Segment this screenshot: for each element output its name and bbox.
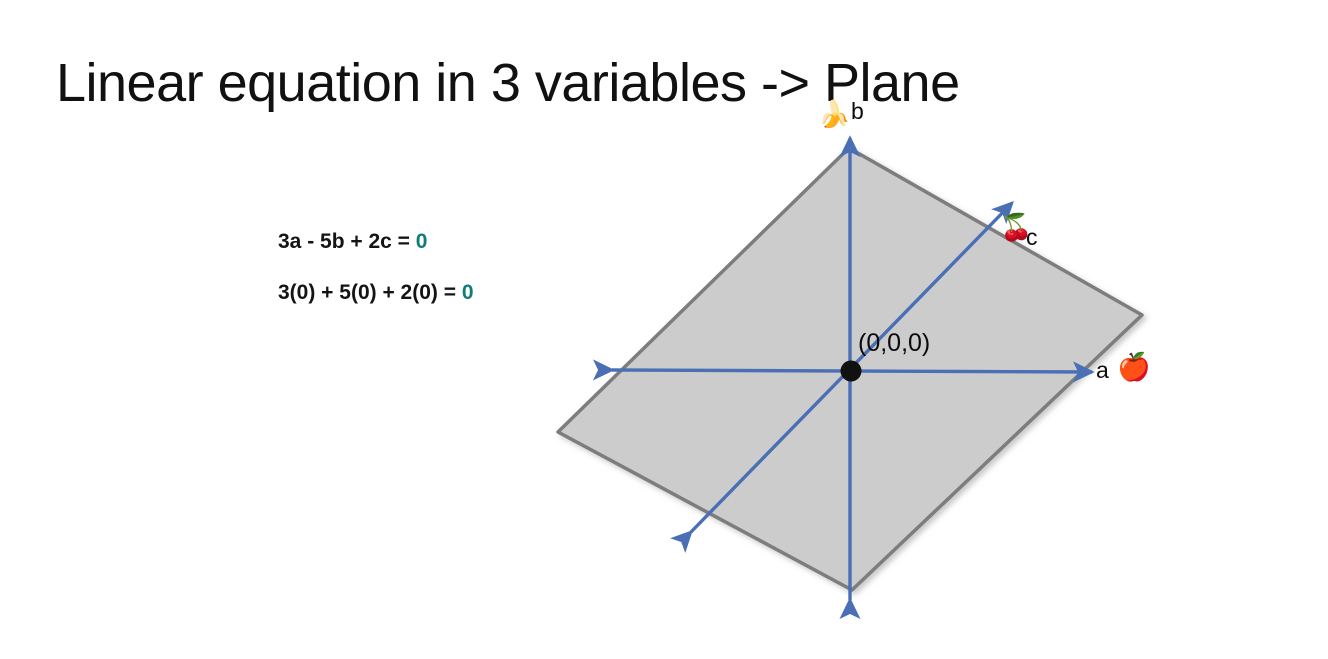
axis-label-b: b [851, 100, 864, 123]
axis-label-a: a [1096, 359, 1109, 382]
origin-label: (0,0,0) [858, 331, 930, 356]
slide-canvas: Linear equation in 3 variables -> Plane … [0, 0, 1328, 659]
origin-dot [841, 361, 862, 382]
plane-diagram [0, 0, 1328, 659]
banana-icon: 🍌 [818, 101, 850, 127]
axis-label-c: c [1026, 226, 1038, 249]
apple-icon: 🍎 [1117, 354, 1151, 381]
